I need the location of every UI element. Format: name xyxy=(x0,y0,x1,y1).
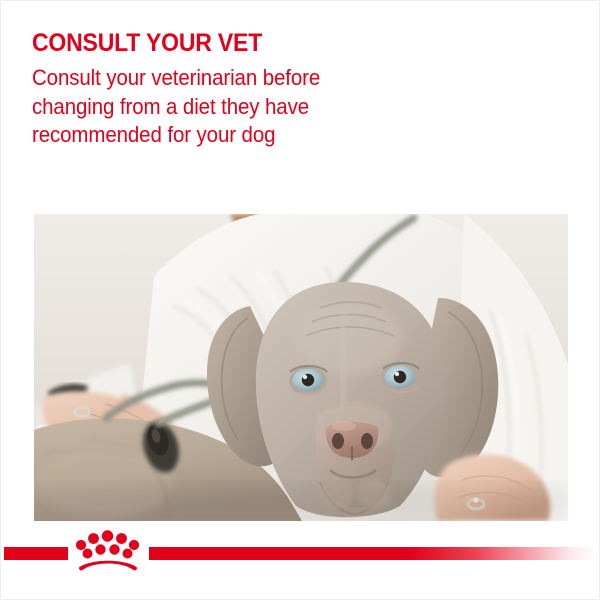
crown-icon xyxy=(73,525,143,571)
vet-advice-card: CONSULT YOUR VET Consult your veterinari… xyxy=(0,0,600,600)
vet-and-dog-photo xyxy=(34,214,568,521)
photo-illustration xyxy=(34,214,568,521)
brand-bar-right-segment xyxy=(149,547,598,560)
page-subtitle: Consult your veterinarian before changin… xyxy=(32,64,404,150)
royal-canin-crown-logo xyxy=(73,525,143,571)
brand-bar-left-segment xyxy=(4,547,68,560)
text-block: CONSULT YOUR VET Consult your veterinari… xyxy=(32,29,452,150)
page-title: CONSULT YOUR VET xyxy=(32,29,418,57)
